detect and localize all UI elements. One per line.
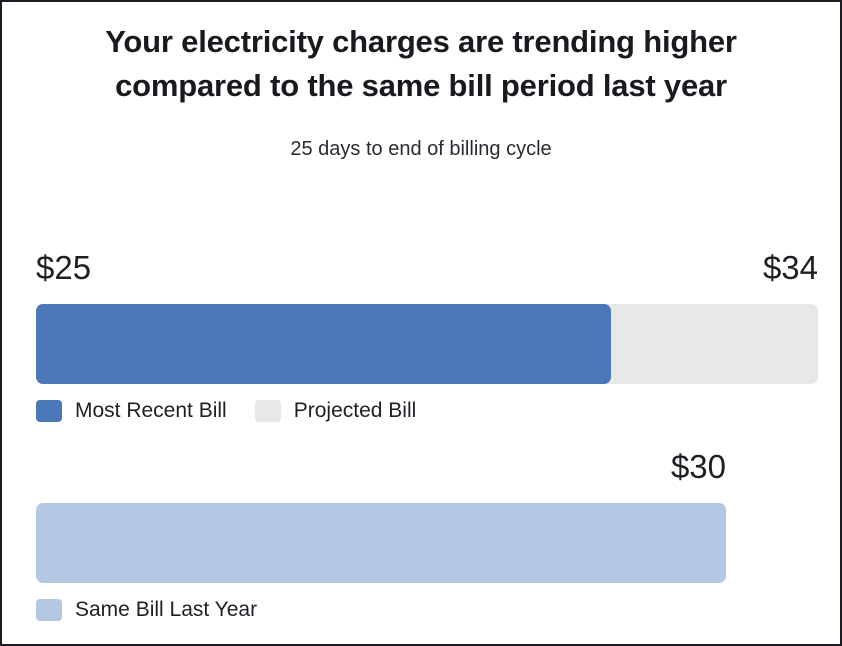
legend-label-same-bill-last-year: Same Bill Last Year: [75, 599, 257, 621]
current-bill-value-row: $25 $34: [36, 246, 818, 286]
electricity-charges-card: Your electricity charges are trending hi…: [0, 0, 842, 646]
chart-plot-area: $25 $34 Most Recent Bill Projected Bill …: [36, 2, 818, 646]
same-bill-last-year-value-label: $30: [36, 449, 726, 485]
same-bill-last-year-bar-fill[interactable]: [36, 503, 726, 583]
most-recent-bill-bar-fill[interactable]: [36, 304, 611, 384]
same-bill-last-year-value-row: $30: [36, 445, 818, 485]
legend-item-same-bill-last-year[interactable]: Same Bill Last Year: [36, 599, 257, 621]
projected-bill-value-label: $34: [763, 250, 818, 286]
legend-swatch-projected-bill: [255, 400, 281, 422]
current-bill-legend: Most Recent Bill Projected Bill: [36, 399, 444, 423]
legend-item-projected-bill[interactable]: Projected Bill: [255, 400, 417, 422]
most-recent-bill-value-label: $25: [36, 250, 91, 286]
legend-item-most-recent-bill[interactable]: Most Recent Bill: [36, 400, 227, 422]
same-bill-last-year-legend: Same Bill Last Year: [36, 598, 285, 622]
projected-bill-bar-track[interactable]: [36, 304, 818, 384]
same-bill-last-year-bar-track: [36, 503, 818, 583]
legend-label-most-recent-bill: Most Recent Bill: [75, 400, 227, 422]
legend-label-projected-bill: Projected Bill: [294, 400, 417, 422]
legend-swatch-most-recent-bill: [36, 400, 62, 422]
legend-swatch-same-bill-last-year: [36, 599, 62, 621]
